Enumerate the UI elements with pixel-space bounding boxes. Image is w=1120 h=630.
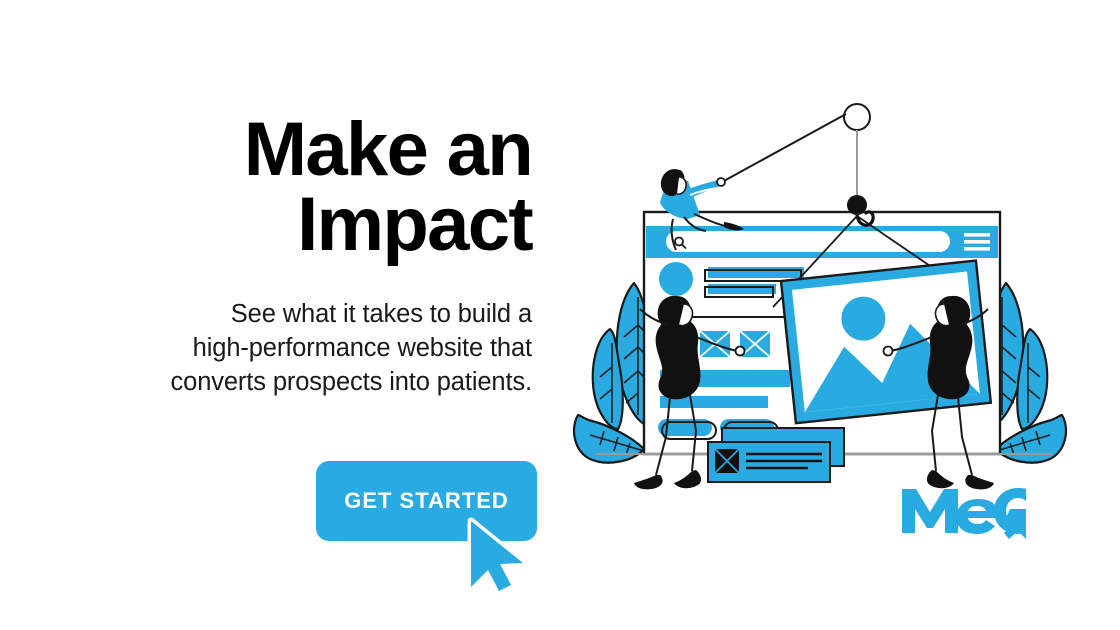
image-placeholder-icon xyxy=(715,449,739,473)
pulley-wheel-icon xyxy=(844,104,870,130)
hero-subheading: See what it takes to build a high-perfor… xyxy=(0,298,532,399)
avatar-circle-icon xyxy=(659,262,693,296)
hamburger-menu-icon xyxy=(964,233,990,251)
meg-logo xyxy=(900,483,1028,539)
cta-area: GET STARTED xyxy=(316,461,537,541)
search-input xyxy=(666,231,950,252)
get-started-button[interactable]: GET STARTED xyxy=(316,461,537,541)
website-build-illustration xyxy=(560,85,1080,505)
hero-copy: Make an Impact See what it takes to buil… xyxy=(0,112,560,399)
hero-banner: Make an Impact See what it takes to buil… xyxy=(0,0,1120,630)
page-title: Make an Impact xyxy=(0,112,532,262)
pulley-rope-rig xyxy=(722,104,870,198)
notification-card xyxy=(708,428,844,482)
